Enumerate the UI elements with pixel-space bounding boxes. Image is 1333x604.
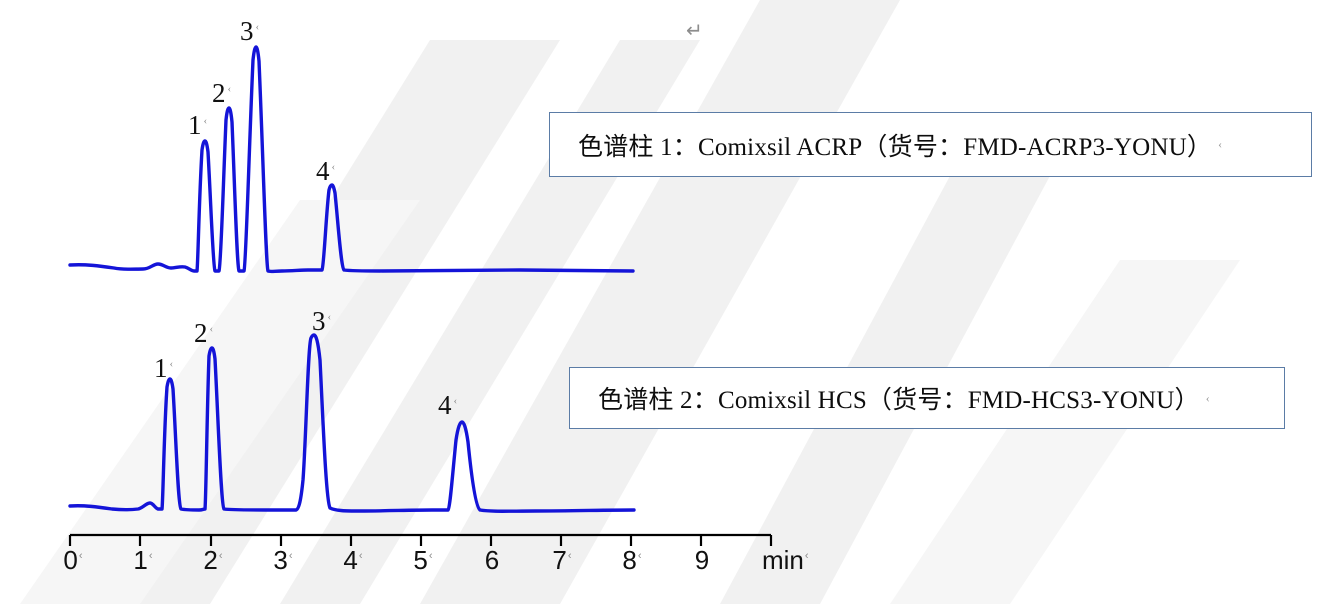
axis-tick-label-3: 3‹ [273,547,292,573]
textbox-column-2-mark: ‹ [1206,391,1210,406]
axis-tick-label-2: 2‹ [203,547,222,573]
axis-tick-label-8: 8‹ [622,547,641,573]
peak-label-top-3: 3‹ [240,18,259,45]
peak-label-bottom-4: 4‹ [438,392,457,419]
peak-label-bottom-2: 2‹ [194,320,213,347]
axis-tick-label-9: 9 [695,547,709,573]
axis-unit-label: min‹ [762,547,809,573]
textbox-column-1-mark: ‹ [1218,137,1222,152]
axis-tick-label-0: 0‹ [63,547,82,573]
axis-tick-label-5: 5‹ [413,547,432,573]
axis-tick-label-6: 6 [485,547,499,573]
peak-label-bottom-3: 3‹ [312,308,331,335]
paragraph-mark-icon: ↵ [686,18,703,43]
textbox-column-1[interactable]: 色谱柱 1：Comixsil ACRP（货号：FMD-ACRP3-YONU） ‹ [549,112,1312,177]
textbox-column-2[interactable]: 色谱柱 2：Comixsil HCS（货号：FMD-HCS3-YONU） ‹ [569,367,1285,429]
peak-label-top-4: 4‹ [316,158,335,185]
peak-label-top-1: 1‹ [188,112,207,139]
chromatogram-traces [0,0,1333,604]
textbox-column-2-text: 色谱柱 2：Comixsil HCS（货号：FMD-HCS3-YONU） [570,380,1200,416]
axis-tick-label-1: 1‹ [133,547,152,573]
peak-label-top-2: 2‹ [212,80,231,107]
axis-tick-label-4: 4‹ [343,547,362,573]
peak-label-bottom-1: 1‹ [154,355,173,382]
chromatogram-figure: 1‹ 2‹ 3‹ 4‹ 1‹ 2‹ 3‹ 4‹ 0‹ 1‹ 2‹ 3‹ 4‹ 5… [0,0,1333,604]
axis-tick-label-7: 7‹ [552,547,571,573]
textbox-column-1-text: 色谱柱 1：Comixsil ACRP（货号：FMD-ACRP3-YONU） [550,127,1212,163]
